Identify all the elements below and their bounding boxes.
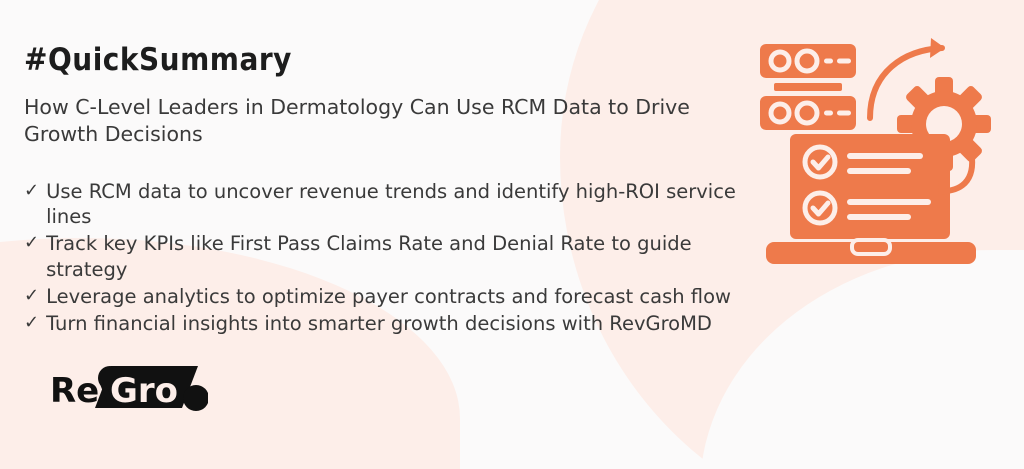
list-item: ✓ Turn financial insights into smarter g…	[24, 311, 764, 336]
logo-text-gro: Gro	[110, 371, 178, 411]
page-subtitle: How C-Level Leaders in Dermatology Can U…	[24, 94, 740, 149]
list-item-label: Leverage analytics to optimize payer con…	[46, 284, 764, 309]
server-rack-bottom	[760, 96, 856, 130]
summary-text-block: #QuickSummary How C-Level Leaders in Der…	[24, 44, 764, 339]
list-item-label: Turn financial insights into smarter gro…	[46, 311, 764, 336]
check-icon: ✓	[24, 284, 39, 309]
laptop-screen-checklist	[790, 134, 950, 239]
list-item: ✓ Leverage analytics to optimize payer c…	[24, 284, 764, 309]
summary-bullet-list: ✓ Use RCM data to uncover revenue trends…	[24, 179, 764, 337]
quick-summary-hashtag-title: #QuickSummary	[24, 44, 764, 75]
list-item-label: Track key KPIs like First Pass Claims Ra…	[46, 231, 764, 282]
revgro-logo: Rev Gro	[48, 358, 208, 418]
summary-graphic-canvas: #QuickSummary How C-Level Leaders in Der…	[0, 0, 1024, 469]
check-icon: ✓	[24, 179, 39, 204]
laptop-trackpad-notch	[852, 240, 890, 254]
laptop-base	[766, 240, 976, 264]
server-rack-divider	[774, 83, 842, 91]
list-item: ✓ Track key KPIs like First Pass Claims …	[24, 231, 764, 282]
list-item: ✓ Use RCM data to uncover revenue trends…	[24, 179, 764, 230]
rcm-data-automation-illustration	[752, 34, 1000, 266]
check-icon: ✓	[24, 311, 39, 336]
logo-slab-round-right	[183, 385, 208, 411]
check-icon: ✓	[24, 231, 39, 256]
list-item-label: Use RCM data to uncover revenue trends a…	[46, 179, 764, 230]
server-rack-top	[760, 44, 856, 78]
